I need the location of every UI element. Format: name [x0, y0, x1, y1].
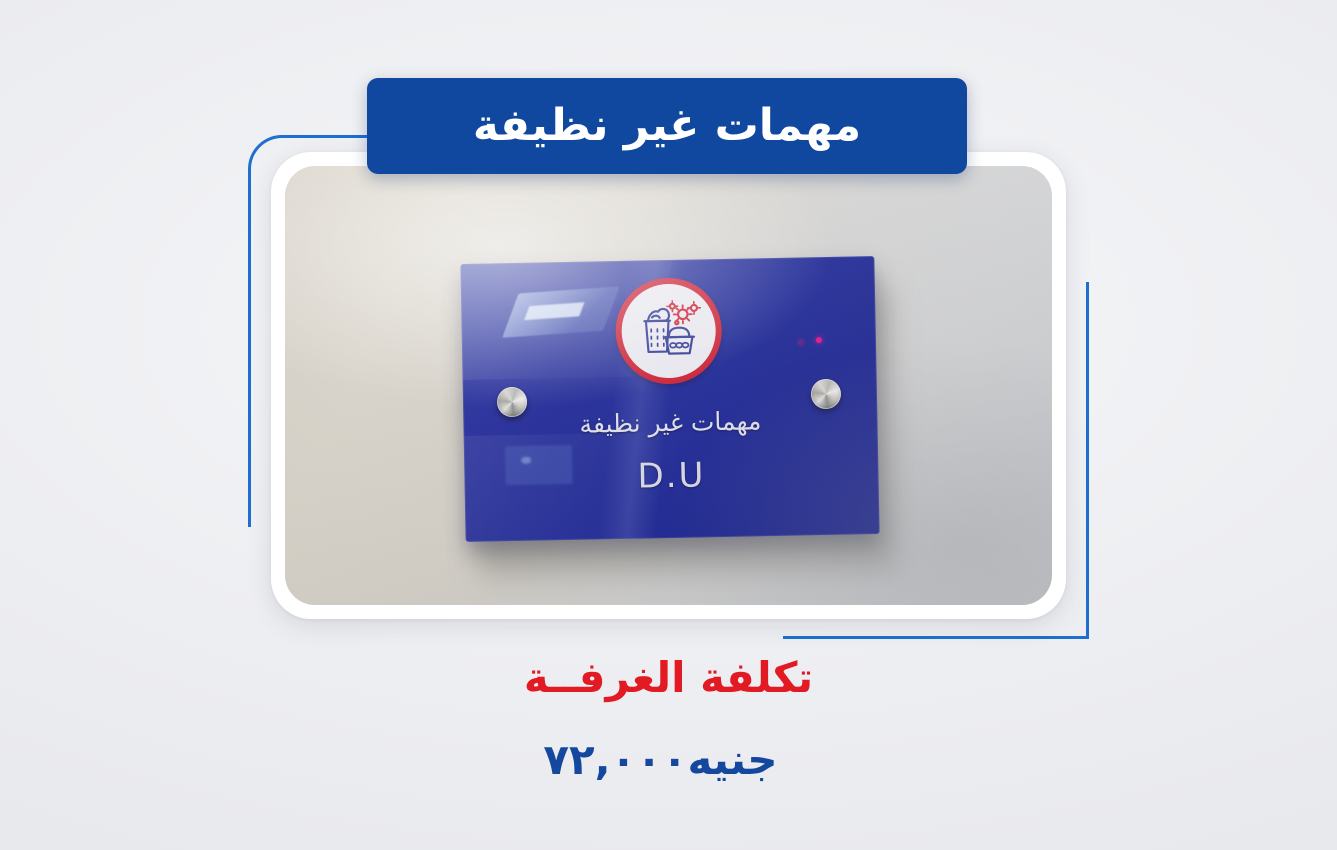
dirty-linen-hamper-badge	[615, 277, 723, 385]
photo-card: مهمات غير نظيفة D.U	[271, 152, 1066, 619]
cost-currency: جنيه	[688, 735, 778, 784]
plaque-arabic-label: مهمات غير نظيفة	[463, 404, 877, 441]
wall-photo: مهمات غير نظيفة D.U	[285, 166, 1052, 605]
indicator-dot-pink	[816, 337, 822, 343]
cost-value: جنيه٧٢,٠٠٠	[0, 738, 1337, 782]
plaque-window-reflection	[502, 286, 620, 338]
cost-caption: تكلفة الغرفــة جنيه٧٢,٠٠٠	[0, 656, 1337, 782]
dirty-linen-hamper-icon	[631, 293, 706, 368]
plaque-window-reflection-bright	[524, 302, 584, 320]
cost-amount: ٧٢,٠٠٠	[543, 735, 687, 784]
plaque-room-code: D.U	[464, 452, 879, 500]
indicator-dot-dark	[798, 339, 804, 345]
slide-stage: مهمات غير نظيفة D.U مهمات غير نظيفة تكلف…	[0, 0, 1337, 850]
header-banner: مهمات غير نظيفة	[367, 78, 967, 174]
door-sign-plaque: مهمات غير نظيفة D.U	[460, 256, 879, 542]
cost-label: تكلفة الغرفــة	[0, 656, 1337, 700]
page-title: مهمات غير نظيفة	[473, 104, 861, 148]
